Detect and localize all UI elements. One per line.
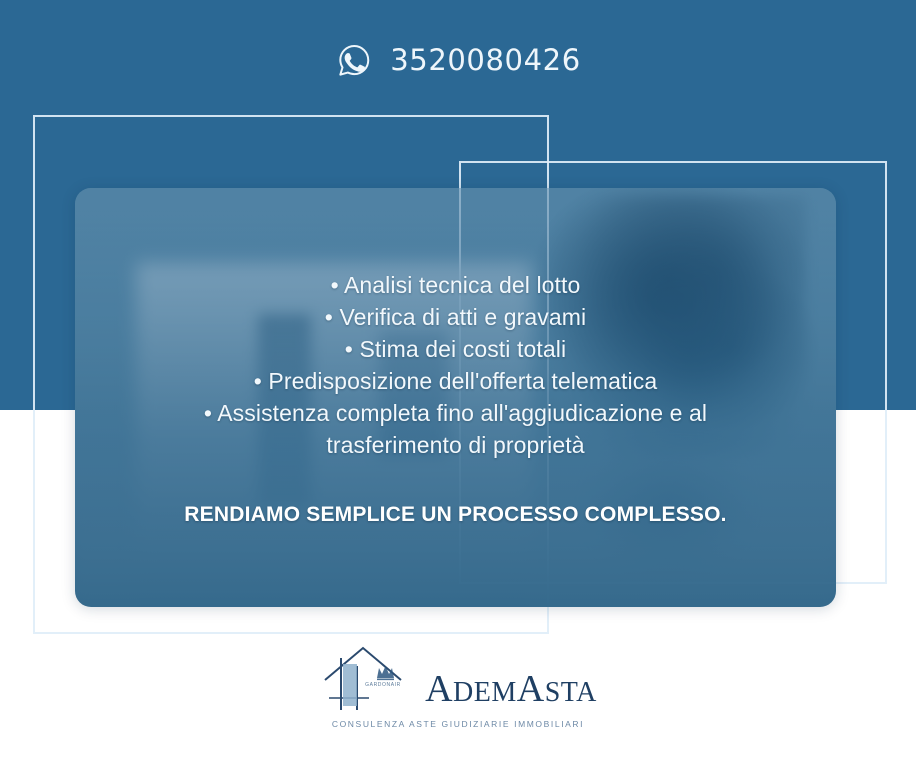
list-item: Predisposizione dell'offerta telematica xyxy=(75,365,836,397)
phone-number[interactable]: 3520080426 xyxy=(390,43,581,77)
poster: 3520080426 Analisi tecnica del lotto Ver… xyxy=(0,0,916,768)
house-with-column-icon: GARDONAIR xyxy=(319,640,423,717)
logo-subtitle: CONSULENZA ASTE GIUDIZIARIE IMMOBILIARI xyxy=(332,719,584,729)
list-item: Stima dei costi totali xyxy=(75,333,836,365)
logo-wordmark: ADEMASTA xyxy=(425,669,597,713)
brand-logo: GARDONAIR ADEMASTA CONSULENZA ASTE GIUDI… xyxy=(0,645,916,750)
list-item: Analisi tecnica del lotto xyxy=(75,269,836,301)
list-item: Verifica di atti e gravami xyxy=(75,301,836,333)
content-card: Analisi tecnica del lotto Verifica di at… xyxy=(75,188,836,607)
tagline: RENDIAMO SEMPLICE UN PROCESSO COMPLESSO. xyxy=(184,503,726,527)
crown-label: GARDONAIR xyxy=(365,682,401,688)
header-contact: 3520080426 xyxy=(0,32,916,88)
list-item: Assistenza completa fino all'aggiudicazi… xyxy=(75,397,836,461)
service-bullet-list: Analisi tecnica del lotto Verifica di at… xyxy=(75,269,836,461)
whatsapp-icon[interactable] xyxy=(335,41,373,79)
